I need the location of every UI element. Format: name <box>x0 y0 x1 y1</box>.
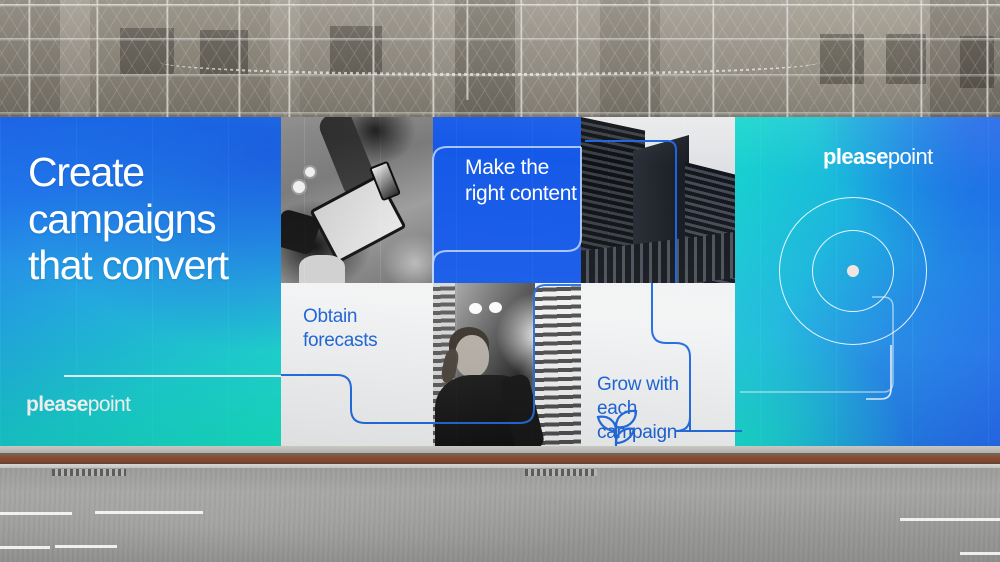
road-marking <box>900 518 1000 521</box>
road-marking <box>0 546 50 549</box>
drain-grate <box>525 469 597 476</box>
road-marking <box>960 552 1000 555</box>
surface-gloss <box>0 117 1000 457</box>
scaffolding-structure <box>0 0 1000 125</box>
road-marking <box>55 545 117 548</box>
road-marking <box>0 512 72 515</box>
road-marking <box>95 511 203 514</box>
drain-grate <box>52 469 126 476</box>
road-asphalt <box>0 468 1000 562</box>
billboard-mockup-scene: Create campaigns that convert pleasepoin… <box>0 0 1000 562</box>
hoarding-artwork: Create campaigns that convert pleasepoin… <box>0 117 1000 457</box>
